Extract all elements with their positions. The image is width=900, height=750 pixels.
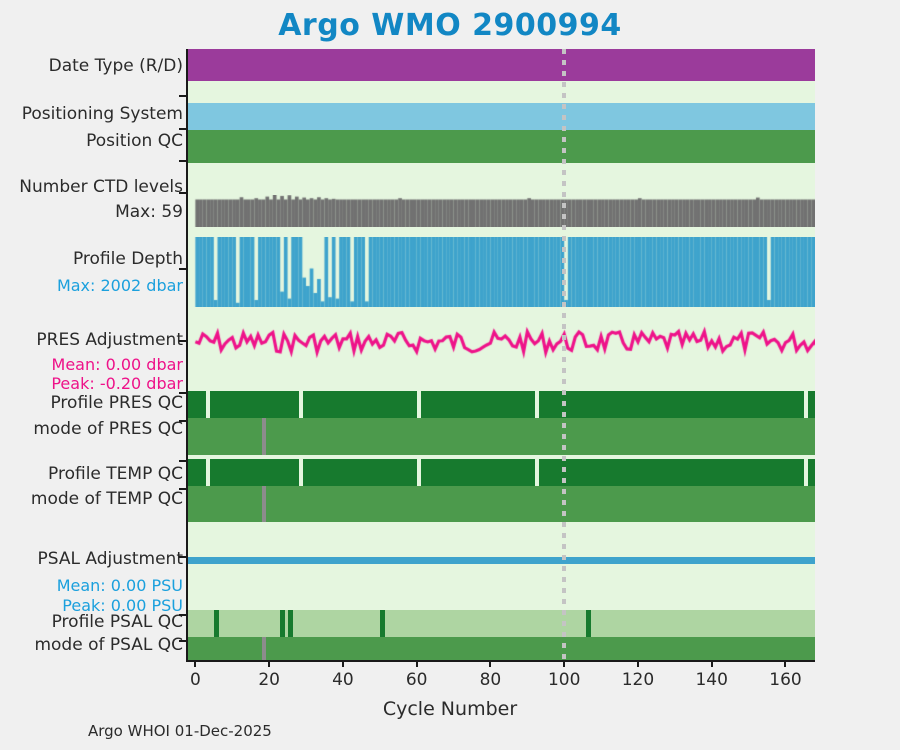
y-axis-tick bbox=[179, 95, 187, 97]
cycle-marker-line bbox=[562, 49, 566, 660]
qc-gap bbox=[417, 391, 421, 418]
psal-qc-spike bbox=[280, 610, 285, 637]
band-profile-pres-qc bbox=[188, 391, 815, 418]
row-label-mode_psal_qc: mode of PSAL QC bbox=[34, 635, 183, 655]
psal-qc-spike bbox=[288, 610, 293, 637]
mode-flagged-cycle bbox=[262, 418, 266, 455]
y-axis-tick bbox=[179, 340, 187, 342]
y-axis-tick bbox=[179, 556, 187, 558]
row-label-date_type: Date Type (R/D) bbox=[49, 56, 183, 76]
row-label-pres_adjustment-sub2: Peak: -0.20 dbar bbox=[51, 374, 183, 394]
band-psal-adjustment bbox=[188, 549, 815, 610]
y-axis-tick bbox=[179, 460, 187, 462]
row-label-pres_adjustment: PRES Adjustment bbox=[36, 330, 183, 350]
x-tick-label-60: 60 bbox=[406, 670, 428, 690]
row-label-mode_pres_qc: mode of PRES QC bbox=[33, 419, 183, 439]
qc-gap bbox=[535, 391, 539, 418]
x-tick-label-0: 0 bbox=[190, 670, 201, 690]
row-label-profile_psal_qc: Profile PSAL QC bbox=[52, 612, 183, 632]
qc-gap bbox=[206, 391, 210, 418]
row-label-position_qc: Position QC bbox=[86, 131, 183, 151]
row-label-psal_adjustment-sub1: Mean: 0.00 PSU bbox=[57, 576, 183, 596]
y-axis-tick bbox=[179, 128, 187, 130]
x-axis-label: Cycle Number bbox=[0, 698, 900, 720]
y-axis-tick bbox=[179, 192, 187, 194]
x-tick-160 bbox=[784, 660, 786, 667]
qc-gap bbox=[299, 391, 303, 418]
x-tick-80 bbox=[489, 660, 491, 667]
band-profile-depth bbox=[188, 237, 815, 307]
mode-flagged-cycle bbox=[262, 637, 266, 660]
psal-adjustment-line bbox=[188, 557, 815, 564]
x-tick-label-80: 80 bbox=[480, 670, 502, 690]
x-tick-100 bbox=[563, 660, 565, 667]
page-title: Argo WMO 2900994 bbox=[0, 8, 900, 43]
x-tick-label-40: 40 bbox=[332, 670, 354, 690]
x-tick-20 bbox=[268, 660, 270, 667]
y-axis-tick bbox=[179, 488, 187, 490]
band-positioning-system bbox=[188, 103, 815, 130]
qc-gap bbox=[417, 459, 421, 486]
x-tick-label-140: 140 bbox=[695, 670, 727, 690]
row-label-ctd_levels: Number CTD levels bbox=[19, 177, 183, 197]
band-profile-psal-qc bbox=[188, 610, 815, 637]
y-axis-tick bbox=[179, 614, 187, 616]
psal-qc-spike bbox=[214, 610, 219, 637]
row-label-mode_temp_qc: mode of TEMP QC bbox=[31, 489, 183, 509]
qc-fill bbox=[188, 459, 815, 486]
qc-gap bbox=[299, 459, 303, 486]
band-ctd-levels bbox=[188, 195, 815, 227]
qc-gap bbox=[535, 459, 539, 486]
y-axis-tick bbox=[179, 392, 187, 394]
band-pres-adjustment bbox=[188, 321, 815, 391]
x-axis-line bbox=[186, 660, 815, 662]
x-tick-label-160: 160 bbox=[769, 670, 801, 690]
row-label-ctd_levels-sub1: Max: 59 bbox=[115, 202, 183, 222]
row-label-psal_adjustment: PSAL Adjustment bbox=[38, 549, 183, 569]
band-mode-temp-qc bbox=[188, 486, 815, 522]
row-label-positioning: Positioning System bbox=[22, 104, 183, 124]
x-tick-40 bbox=[342, 660, 344, 667]
y-axis-tick bbox=[179, 160, 187, 162]
row-label-profile_depth: Profile Depth bbox=[73, 249, 183, 269]
qc-gap bbox=[804, 459, 808, 486]
band-mode-pres-qc bbox=[188, 418, 815, 455]
footer-credit: Argo WHOI 01-Dec-2025 bbox=[88, 722, 272, 740]
qc-fill bbox=[188, 391, 815, 418]
y-axis-tick bbox=[179, 420, 187, 422]
psal-qc-spike bbox=[586, 610, 591, 637]
row-label-profile_pres_qc: Profile PRES QC bbox=[50, 393, 183, 413]
y-axis-tick bbox=[179, 640, 187, 642]
psal-qc-spike bbox=[380, 610, 385, 637]
band-profile-temp-qc bbox=[188, 459, 815, 486]
x-tick-0 bbox=[194, 660, 196, 667]
x-tick-140 bbox=[711, 660, 713, 667]
mode-flagged-cycle bbox=[262, 486, 266, 522]
row-label-pres_adjustment-sub1: Mean: 0.00 dbar bbox=[52, 355, 183, 375]
band-position-qc bbox=[188, 130, 815, 163]
x-tick-label-120: 120 bbox=[622, 670, 654, 690]
band-mode-psal-qc bbox=[188, 637, 815, 660]
x-tick-60 bbox=[416, 660, 418, 667]
row-label-profile_temp_qc: Profile TEMP QC bbox=[48, 464, 183, 484]
x-tick-label-20: 20 bbox=[258, 670, 280, 690]
band-date-type bbox=[188, 49, 815, 81]
qc-gap bbox=[206, 459, 210, 486]
x-tick-label-100: 100 bbox=[548, 670, 580, 690]
y-axis-tick bbox=[179, 268, 187, 270]
x-tick-120 bbox=[637, 660, 639, 667]
row-label-profile_depth-sub1: Max: 2002 dbar bbox=[57, 276, 183, 296]
qc-gap bbox=[804, 391, 808, 418]
